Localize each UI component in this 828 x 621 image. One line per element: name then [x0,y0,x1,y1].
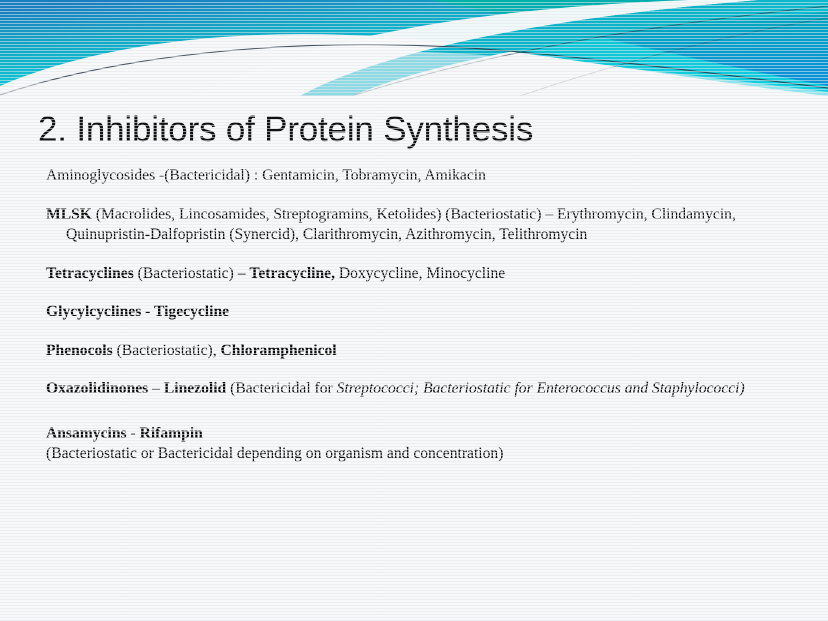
text-run: Doxycycline, Minocycline [335,265,505,282]
bullet-ansamycins-note: (Bacteriostatic or Bactericidal dependin… [46,444,786,465]
slide-canvas: 2. Inhibitors of Protein Synthesis Amino… [0,0,828,621]
bullet-tetracyclines: Tetracyclines (Bacteriostatic) – Tetracy… [46,264,786,285]
text-run: MLSK [46,206,92,223]
text-run: Aminoglycosides -(Bactericidal) : Gentam… [46,167,486,184]
text-run: (Bacteriostatic or Bactericidal dependin… [46,445,503,462]
text-run: Oxazolidinones – Linezolid [46,380,226,397]
text-run: Tetracyclines [46,265,134,282]
bullet-oxazolidinones: Oxazolidinones – Linezolid (Bactericidal… [46,379,786,400]
page-title: 2. Inhibitors of Protein Synthesis [38,110,533,150]
bullet-phenocols: Phenocols (Bacteriostatic), Chlorampheni… [46,341,786,362]
text-run: Phenocols [46,342,113,359]
text-run: Chloramphenicol [221,342,337,359]
bullet-glycylcyclines: Glycylcyclines - Tigecycline [46,302,786,323]
text-run: (Bacteriostatic), [113,342,221,359]
body-text-block: Aminoglycosides -(Bactericidal) : Gentam… [46,166,786,483]
text-run: Tetracycline, [249,265,335,282]
text-run: Streptococci; Bacteriostatic for Enteroc… [337,380,745,397]
bullet-aminoglycosides: Aminoglycosides -(Bactericidal) : Gentam… [46,166,786,187]
text-run: Ansamycins - Rifampin [46,425,203,442]
bullet-ansamycins: Ansamycins - Rifampin [46,424,786,445]
text-run: (Macrolides, Lincosamides, Streptogramin… [66,206,736,244]
text-run: Glycylcyclines - Tigecycline [46,303,229,320]
slide-content: 2. Inhibitors of Protein Synthesis Amino… [0,0,828,621]
text-run: (Bactericidal for [226,380,336,397]
bullet-mlsk: MLSK (Macrolides, Lincosamides, Streptog… [46,205,786,246]
text-run: (Bacteriostatic) – [134,265,250,282]
